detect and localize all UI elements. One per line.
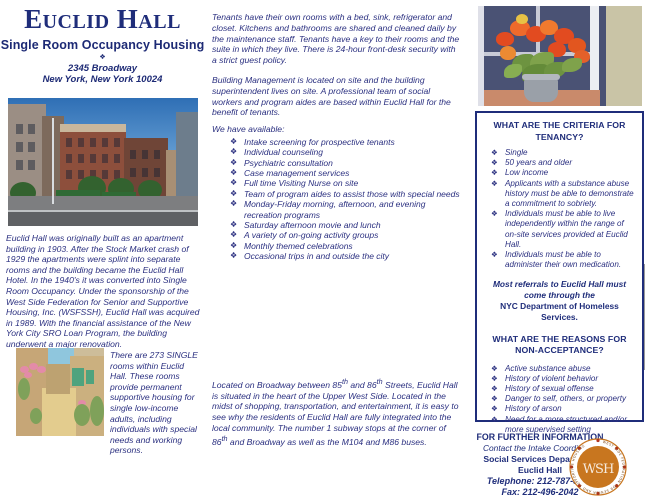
history-paragraph: Euclid Hall was originally built as an a… [6,233,200,350]
subtitle: Single Room Occupancy Housing [0,38,205,52]
rooms-paragraph: There are 273 SINGLE rooms within Euclid… [110,350,202,456]
list-item-label: Psychiatric consultation [244,158,333,168]
list-item: ❖Team of program aides to assist those w… [230,189,462,199]
middle-column: Tenants have their own rooms with a bed,… [207,0,465,501]
reasons-list: ❖Active substance abuse ❖History of viol… [483,364,636,435]
list-item-label: Danger to self, others, or property [505,394,626,403]
wsfssh-seal-icon: WEST SIDE FEDERATION FOR SENIOR AND SUPP… [568,437,628,497]
list-item-label: History of arson [505,404,562,413]
brochure-page: EUCLID HALL Single Room Occupancy Housin… [0,0,650,501]
reasons-heading-line-2: NON-ACCEPTANCE? [483,345,636,357]
diamond-bullet-icon: ❖ [230,178,237,188]
list-item-label: A variety of on-going activity groups [244,230,378,240]
diamond-bullet-icon: ❖ [230,147,237,157]
diamond-bullet-icon: ❖ [230,241,237,251]
list-item-label: Monthly themed celebrations [244,241,353,251]
list-item-label: Intake screening for prospective tenants [244,137,395,147]
page-title: EUCLID HALL [0,6,205,33]
tenants-paragraph: Tenants have their own rooms with a bed,… [212,12,460,66]
list-item-label: Single [505,148,528,157]
management-paragraph: Building Management is located on site a… [212,75,460,118]
address-line-2: New York, New York 10024 [0,74,205,85]
list-item: ❖Applicants with a substance abuse histo… [489,179,636,210]
list-item-label: History of sexual offense [505,384,594,393]
intro-block: Tenants have their own rooms with a bed,… [212,12,460,127]
left-column: EUCLID HALL Single Room Occupancy Housin… [0,0,205,501]
list-item-label: Active substance abuse [505,364,591,373]
criteria-heading-line-1: WHAT ARE THE CRITERIA FOR [483,120,636,132]
list-item: ❖50 years and older [489,158,636,168]
services-list: ❖Intake screening for prospective tenant… [212,137,462,262]
diamond-bullet-icon: ❖ [491,415,498,425]
diamond-bullet-icon: ❖ [491,404,498,414]
list-item-label: Need for a more structured and/or more s… [505,415,627,434]
list-item-label: Individuals must be able to administer t… [505,250,621,269]
list-item-label: Case management services [244,168,349,178]
list-item-label: Individuals must be able to live indepen… [505,209,628,249]
criteria-heading-line-2: TENANCY? [483,132,636,144]
diamond-bullet-icon: ❖ [230,230,237,240]
diamond-bullet-icon: ❖ [491,250,498,260]
list-item-label: Saturday afternoon movie and lunch [244,220,381,230]
list-item: ❖History of arson [489,404,636,414]
available-heading: We have available: [212,124,462,135]
location-text-4: and Broadway as well as the M104 and M86… [228,437,427,447]
list-item: ❖Monday-Friday morning, afternoon, and e… [230,199,462,220]
diamond-bullet-icon: ❖ [491,384,498,394]
diamond-bullet-icon: ❖ [491,394,498,404]
list-item-label: Monday-Friday morning, afternoon, and ev… [244,199,425,219]
list-item: ❖Saturday afternoon movie and lunch [230,220,462,230]
diamond-bullet-icon: ❖ [491,158,498,168]
list-item-label: 50 years and older [505,158,572,167]
diamond-bullet-icon: ❖ [230,199,237,209]
address: 2345 Broadway New York, New York 10024 [0,63,205,85]
diamond-divider-icon: ❖ [0,54,205,62]
list-item: ❖Occasional trips in and outside the cit… [230,251,462,261]
referral-note-line-1: Most referrals to Euclid Hall must come … [483,279,636,301]
location-paragraph: Located on Broadway between 85th and 86t… [212,377,462,448]
diamond-bullet-icon: ❖ [230,137,237,147]
building-photo [8,98,198,226]
list-item-label: Team of program aides to assist those wi… [244,189,460,199]
tenancy-criteria-box: WHAT ARE THE CRITERIA FOR TENANCY? ❖Sing… [475,111,644,422]
list-item: ❖Single [489,148,636,158]
location-text-1: Located on Broadway between 85 [212,380,342,390]
list-item: ❖Active substance abuse [489,364,636,374]
referral-note-line-2: NYC Department of Homeless Services. [483,301,636,323]
list-item: ❖Individuals must be able to administer … [489,250,636,270]
list-item-label: Low income [505,168,548,177]
list-item: ❖Danger to self, others, or property [489,394,636,404]
list-item: ❖History of violent behavior [489,374,636,384]
diamond-bullet-icon: ❖ [230,158,237,168]
list-item: ❖Low income [489,168,636,178]
village-artwork [16,348,104,436]
list-item: ❖Full time Visiting Nurse on site [230,178,462,188]
diamond-bullet-icon: ❖ [491,148,498,158]
diamond-bullet-icon: ❖ [491,209,498,219]
list-item-label: History of violent behavior [505,374,598,383]
criteria-list: ❖Single ❖50 years and older ❖Low income … [483,148,636,270]
diamond-bullet-icon: ❖ [491,364,498,374]
criteria-heading: WHAT ARE THE CRITERIA FOR TENANCY? [483,120,636,143]
list-item-label: Occasional trips in and outside the city [244,251,389,261]
reasons-heading-line-1: WHAT ARE THE REASONS FOR [483,334,636,346]
diamond-bullet-icon: ❖ [230,220,237,230]
list-item: ❖Individuals must be able to live indepe… [489,209,636,250]
tulips-artwork [478,6,642,106]
location-text-2: and 86 [348,380,377,390]
list-item: ❖A variety of on-going activity groups [230,230,462,240]
diamond-bullet-icon: ❖ [230,168,237,178]
title-h: H [117,4,139,34]
diamond-bullet-icon: ❖ [491,374,498,384]
address-line-1: 2345 Broadway [0,63,205,74]
diamond-bullet-icon: ❖ [491,179,498,189]
list-item: ❖Individual counseling [230,147,462,157]
list-item: ❖Psychiatric consultation [230,158,462,168]
list-item: ❖History of sexual offense [489,384,636,394]
list-item: ❖Monthly themed celebrations [230,241,462,251]
diamond-bullet-icon: ❖ [230,251,237,261]
services-block: We have available: ❖Intake screening for… [212,124,462,262]
location-block: Located on Broadway between 85th and 86t… [212,377,462,457]
list-item-label: Applicants with a substance abuse histor… [505,179,634,208]
list-item-label: Individual counseling [244,147,323,157]
diamond-bullet-icon: ❖ [230,189,237,199]
list-item-label: Full time Visiting Nurse on site [244,178,358,188]
svg-text:WSH: WSH [583,462,614,477]
list-item: ❖Intake screening for prospective tenant… [230,137,462,147]
right-column: WHAT ARE THE CRITERIA FOR TENANCY? ❖Sing… [467,0,650,501]
title-uclid: UCLID [43,11,110,33]
masthead: EUCLID HALL Single Room Occupancy Housin… [0,6,205,85]
referral-note: Most referrals to Euclid Hall must come … [483,279,636,322]
list-item: ❖Case management services [230,168,462,178]
diamond-bullet-icon: ❖ [491,168,498,178]
reasons-heading: WHAT ARE THE REASONS FOR NON-ACCEPTANCE? [483,334,636,357]
title-e: E [24,4,43,34]
title-all: ALL [138,11,181,33]
